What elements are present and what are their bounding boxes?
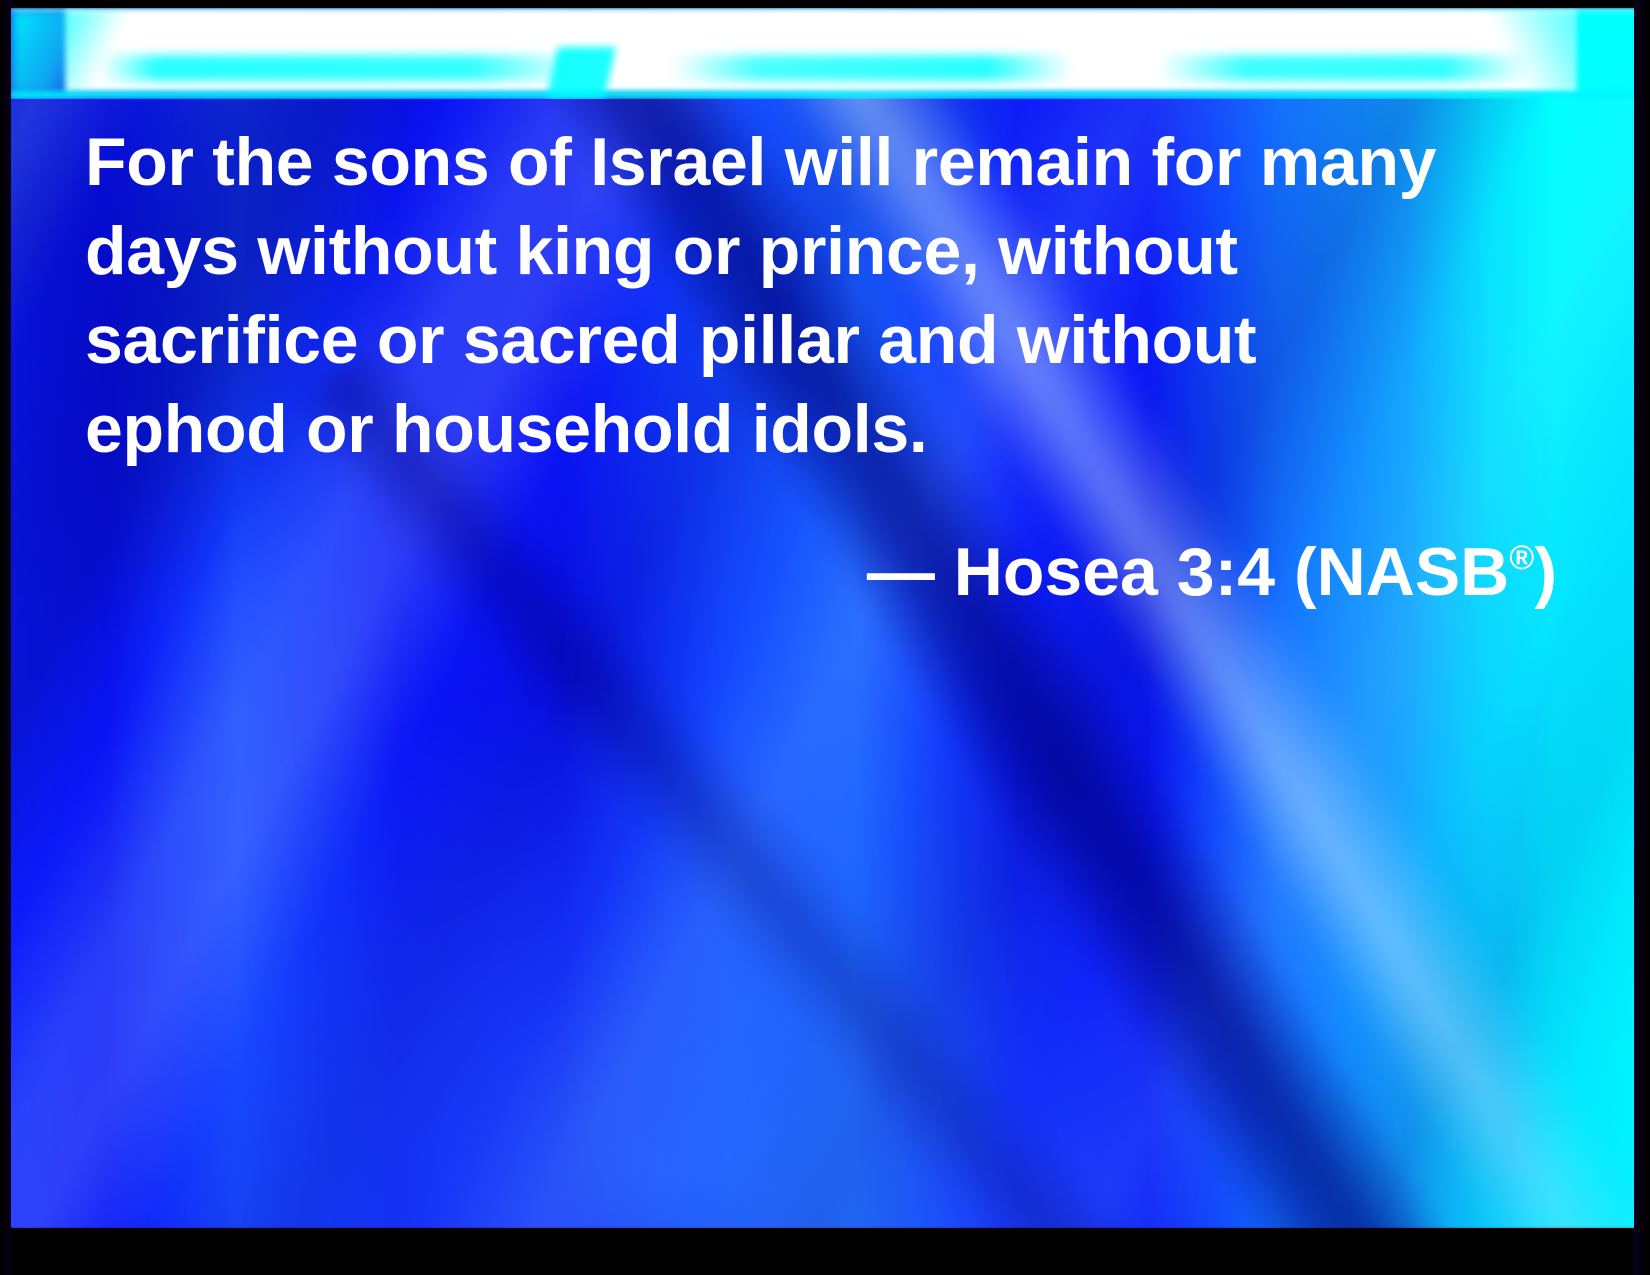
attribution-translation-close: ) [1534,534,1557,610]
frame-border-left [0,0,11,1275]
top-glow-band [10,7,1635,99]
top-band-upper-edge [10,7,1635,13]
verse-line-4: ephod or household idols. [85,385,1565,474]
attribution-spacer-3 [1275,534,1294,610]
verse-slide: For the sons of Israel will remain for m… [0,0,1650,1275]
frame-border-bottom [0,1228,1650,1275]
attribution-spacer-2 [1158,534,1177,610]
top-band-cyan-notch [546,47,615,99]
verse-attribution: — Hosea 3:4 (NASB®) [85,518,1565,612]
verse-line-3: sacrifice or sacred pillar and without [85,296,1565,385]
attribution-spacer-1 [935,534,954,610]
verse-line-2: days without king or prince, without [85,207,1565,296]
verse-text-block: For the sons of Israel will remain for m… [85,118,1565,612]
frame-border-top [0,0,1650,8]
attribution-em-dash: — [867,534,935,610]
top-band-cyan-right-glow [1485,7,1635,95]
top-band-cyan-baseline [10,91,1635,99]
top-band-cyan-left-glow [10,7,130,95]
top-band-white-core [65,7,1577,93]
frame-bottom-tint [0,1226,1650,1232]
attribution-reference: 3:4 [1177,534,1275,610]
attribution-book: Hosea [954,534,1158,610]
frame-border-right [1634,0,1650,1275]
top-band-cyan-streak [100,55,1530,81]
attribution-translation-open: (NASB [1294,534,1509,610]
verse-line-1: For the sons of Israel will remain for m… [85,118,1565,207]
frame-top-tint [0,5,1650,10]
registered-trademark-icon: ® [1509,539,1534,577]
